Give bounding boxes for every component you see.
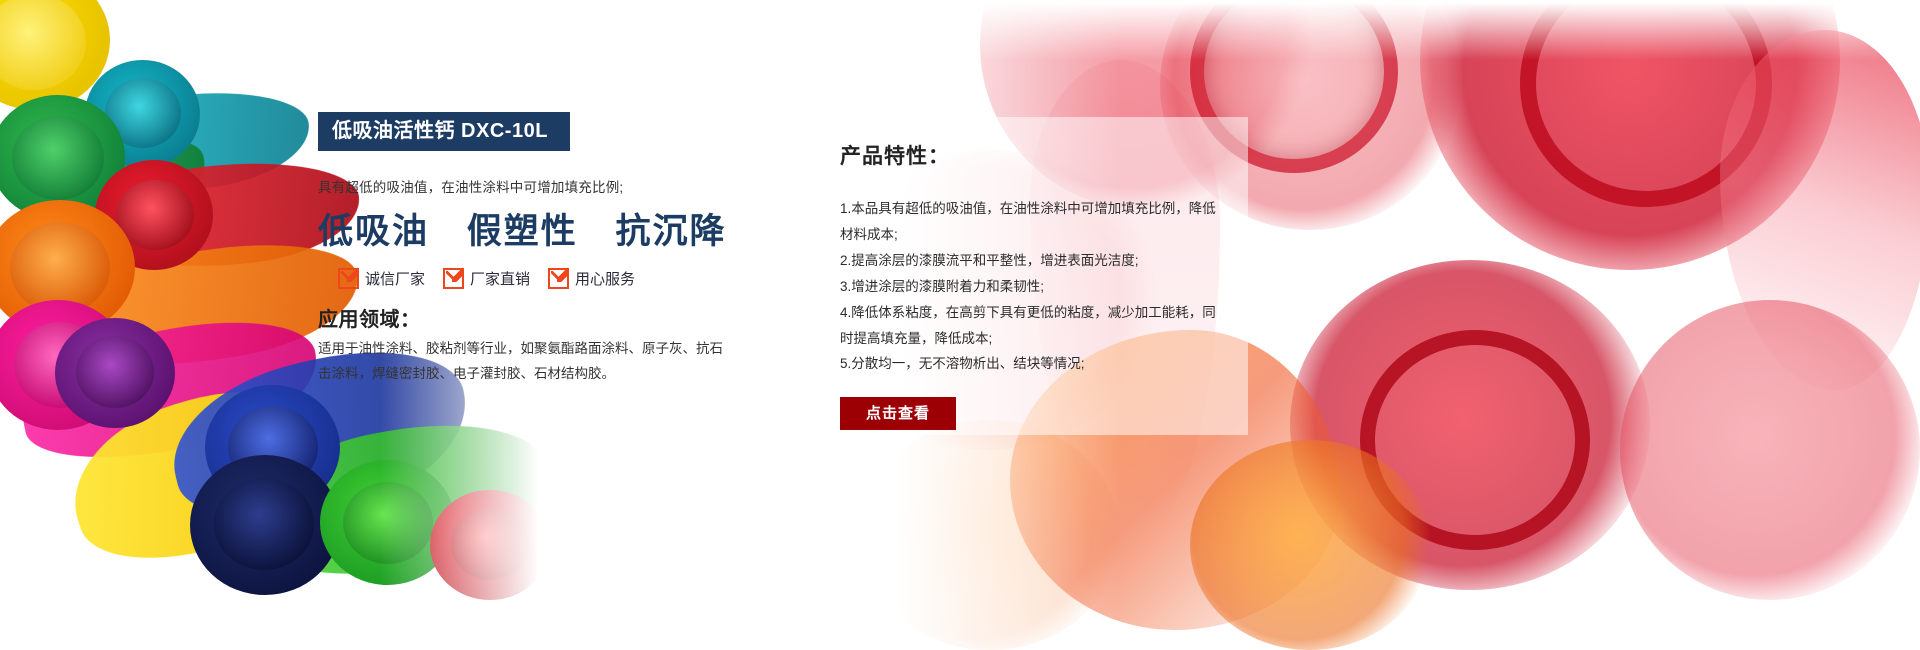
trust-badge-1-label: 诚信厂家 — [365, 268, 425, 289]
promo-copy-block: 低吸油活性钙 DXC-10L 具有超低的吸油值，在油性涂料中可增加填充比例; 低… — [318, 112, 748, 387]
product-subtitle: 具有超低的吸油值，在油性涂料中可增加填充比例; — [318, 177, 748, 199]
orange-paint-blob-2 — [1190, 440, 1430, 650]
headline-keywords: 低吸油 假塑性 抗沉降 — [318, 211, 748, 252]
feature-item-5: 5.分散均一，无不溶物析出、结块等情况; — [840, 351, 1218, 377]
promo-banner: 低吸油活性钙 DXC-10L 具有超低的吸油值，在油性涂料中可增加填充比例; 低… — [0, 0, 1920, 650]
feature-item-2: 2.提高涂层的漆膜流平和平整性，增进表面光洁度; — [840, 248, 1218, 274]
trust-badge-list: 诚信厂家 厂家直销 用心服务 — [318, 268, 748, 289]
trust-badge-2-label: 厂家直销 — [470, 268, 530, 289]
trust-badge-3: 用心服务 — [548, 268, 635, 289]
trust-badge-2: 厂家直销 — [443, 268, 530, 289]
paint-can-purple-inner — [76, 336, 154, 408]
application-heading: 应用领域： — [318, 303, 748, 332]
trust-badge-3-label: 用心服务 — [575, 268, 635, 289]
trust-badge-1: 诚信厂家 — [338, 268, 425, 289]
features-panel: 产品特性： 1.本品具有超低的吸油值，在油性涂料中可增加填充比例，降低材料成本;… — [840, 140, 1240, 430]
red-paint-blob-5 — [1620, 300, 1920, 600]
headline-keyword-3: 抗沉降 — [616, 212, 727, 251]
headline-keyword-1: 低吸油 — [318, 212, 429, 251]
feature-item-3: 3.增进涂层的漆膜附着力和柔韧性; — [840, 274, 1218, 300]
paint-can-navy-inner — [214, 478, 314, 570]
feature-item-1: 1.本品具有超低的吸油值，在油性涂料中可增加填充比例，降低材料成本; — [840, 196, 1218, 248]
application-text: 适用于油性涂料、胶粘剂等行业，如聚氨酯路面涂料、原子灰、抗石击涂料，焊缝密封胶、… — [318, 337, 730, 387]
view-details-button[interactable]: 点击查看 — [840, 397, 956, 430]
paint-can-green-inner — [12, 116, 104, 200]
headline-keyword-2: 假塑性 — [467, 212, 578, 251]
checkbox-checked-icon — [338, 268, 359, 289]
features-heading: 产品特性： — [840, 140, 1240, 170]
checkbox-checked-icon — [443, 268, 464, 289]
checkbox-checked-icon — [548, 268, 569, 289]
features-list: 1.本品具有超低的吸油值，在油性涂料中可增加填充比例，降低材料成本; 2.提高涂… — [840, 196, 1218, 377]
feature-item-4: 4.降低体系粘度，在高剪下具有更低的粘度，减少加工能耗，同时提高填充量，降低成本… — [840, 300, 1218, 352]
product-tag-badge: 低吸油活性钙 DXC-10L — [318, 112, 570, 151]
